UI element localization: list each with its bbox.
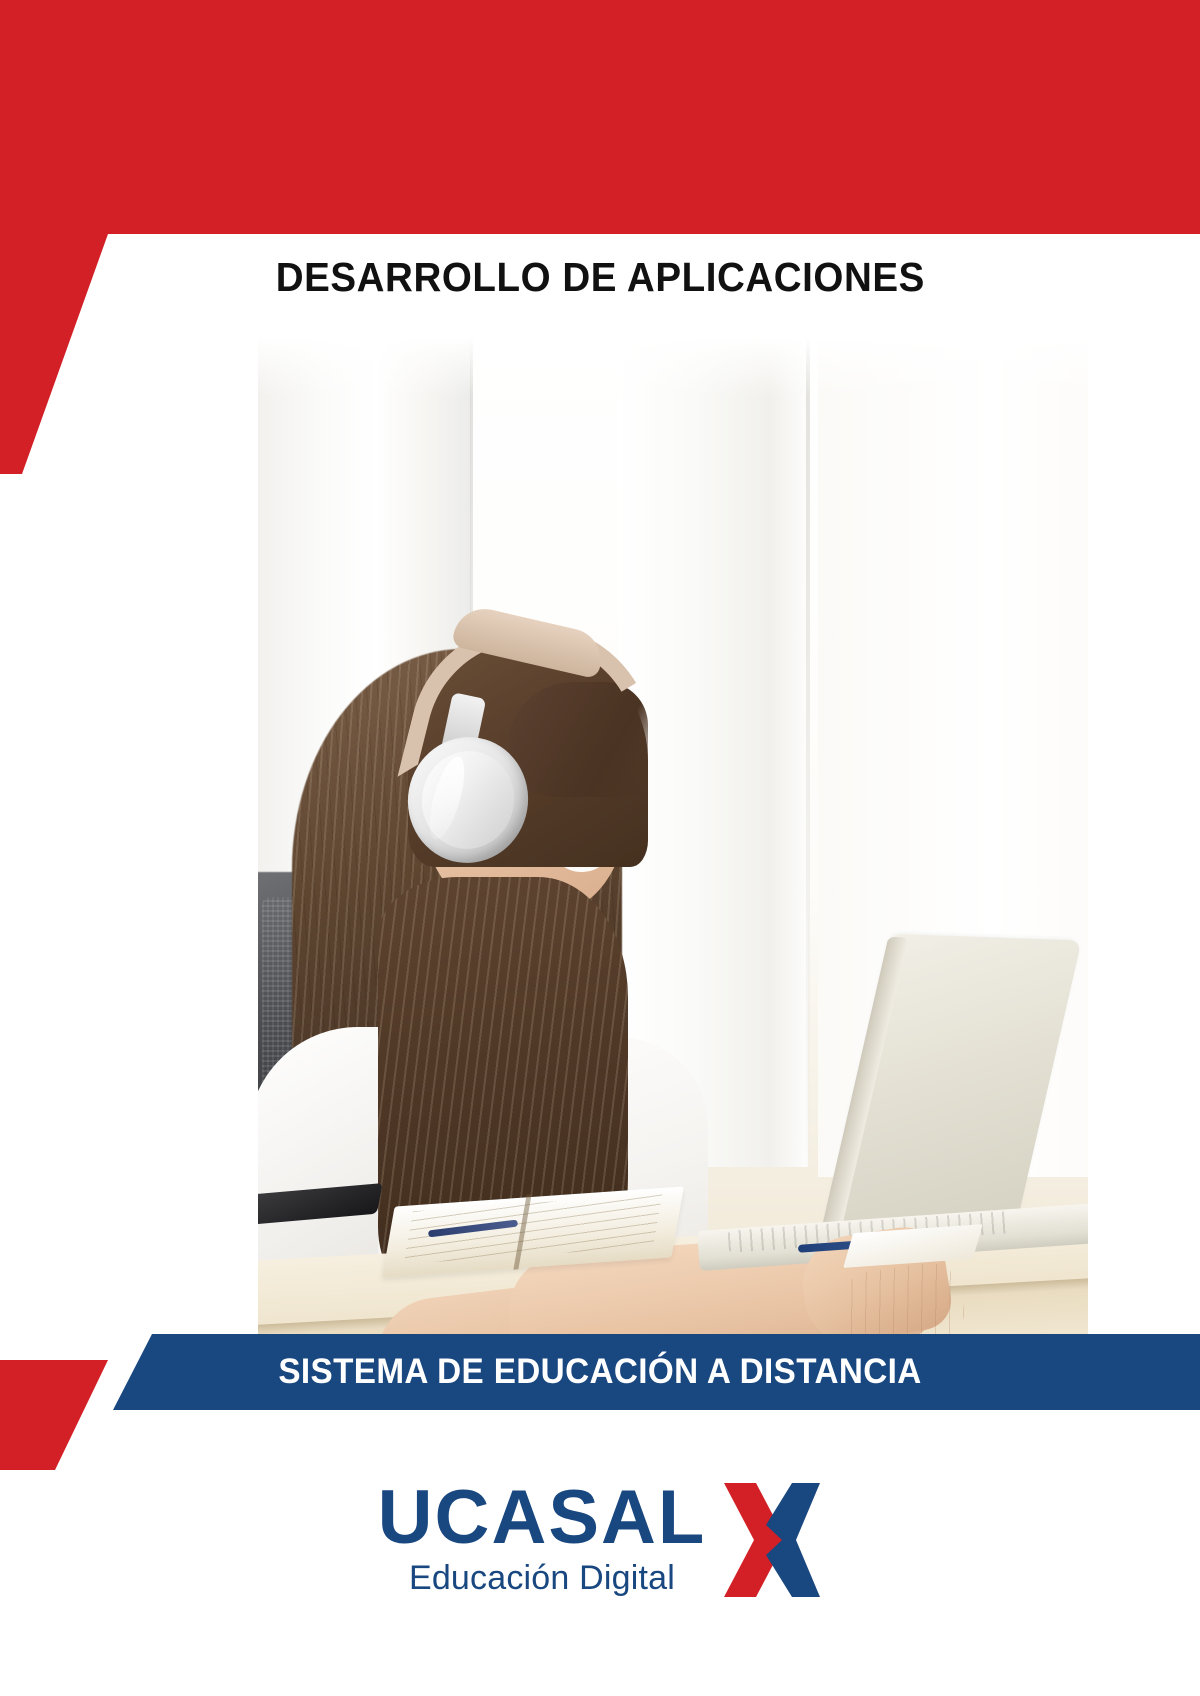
header-red-block: [0, 0, 1200, 256]
photo-background: [258, 337, 1088, 1337]
banner-subtitle: SISTEMA DE EDUCACIÓN A DISTANCIA: [30, 1334, 1170, 1410]
photo-top-fade: [258, 337, 1088, 397]
brand-tagline: Educación Digital: [409, 1559, 675, 1598]
page-title: DESARROLLO DE APLICACIONES: [275, 254, 924, 301]
brand-name: UCASAL: [378, 1482, 707, 1555]
cover-page: DESARROLLO DE APLICACIONES: [0, 0, 1200, 1696]
chevron-pair-icon: [722, 1481, 822, 1599]
brand-logo: UCASAL Educación Digital: [0, 1470, 1200, 1610]
cover-photo: [258, 337, 1088, 1337]
title-band: DESARROLLO DE APLICACIONES: [0, 238, 1200, 316]
